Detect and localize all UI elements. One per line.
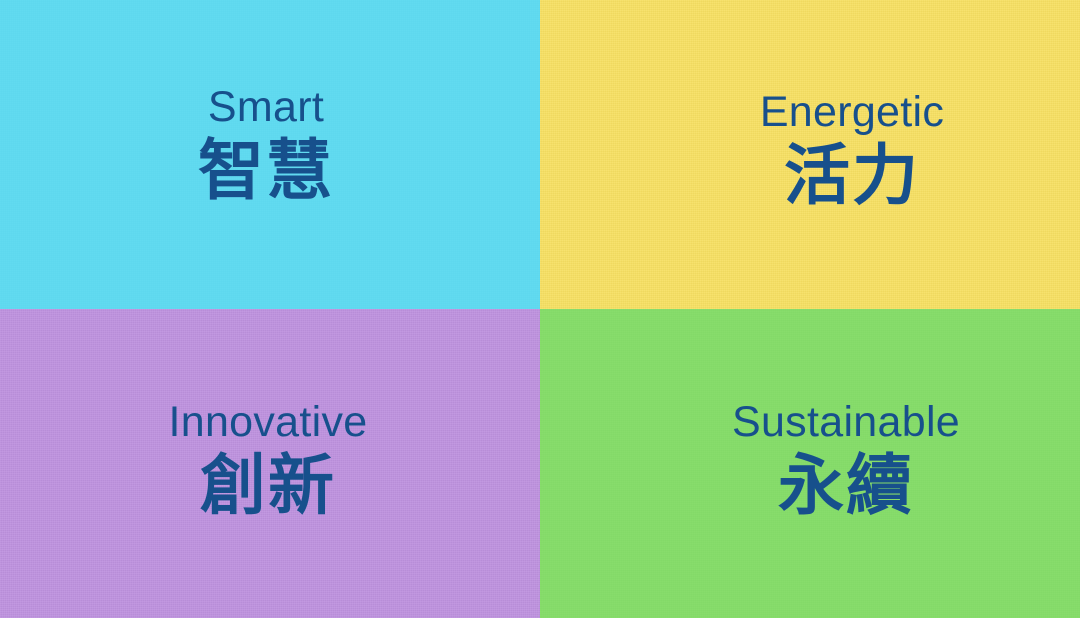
quadrant-energetic-label-zh: 活力 bbox=[784, 139, 920, 213]
quadrant-sustainable: Sustainable 永續 bbox=[540, 309, 1080, 618]
quadrant-sustainable-label-zh: 永續 bbox=[778, 449, 914, 523]
quadrant-energetic: Energetic 活力 bbox=[540, 0, 1080, 309]
quadrant-innovative: Innovative 創新 bbox=[0, 309, 540, 618]
text-block-sustainable: Sustainable 永續 bbox=[732, 400, 960, 523]
quadrant-sustainable-label-en: Sustainable bbox=[732, 400, 960, 445]
brand-values-poster: Smart 智慧 Energetic 活力 Innovative 創新 Sust… bbox=[0, 0, 1080, 618]
quadrant-innovative-label-en: Innovative bbox=[168, 400, 367, 445]
quadrant-energetic-label-en: Energetic bbox=[760, 90, 944, 135]
text-block-energetic: Energetic 活力 bbox=[760, 90, 944, 213]
quadrant-smart-label-en: Smart bbox=[208, 85, 324, 130]
text-block-smart: Smart 智慧 bbox=[198, 85, 334, 208]
quadrant-smart-label-zh: 智慧 bbox=[198, 134, 334, 208]
quadrant-innovative-label-zh: 創新 bbox=[200, 449, 336, 523]
quadrant-smart: Smart 智慧 bbox=[0, 0, 540, 309]
text-block-innovative: Innovative 創新 bbox=[168, 400, 367, 523]
